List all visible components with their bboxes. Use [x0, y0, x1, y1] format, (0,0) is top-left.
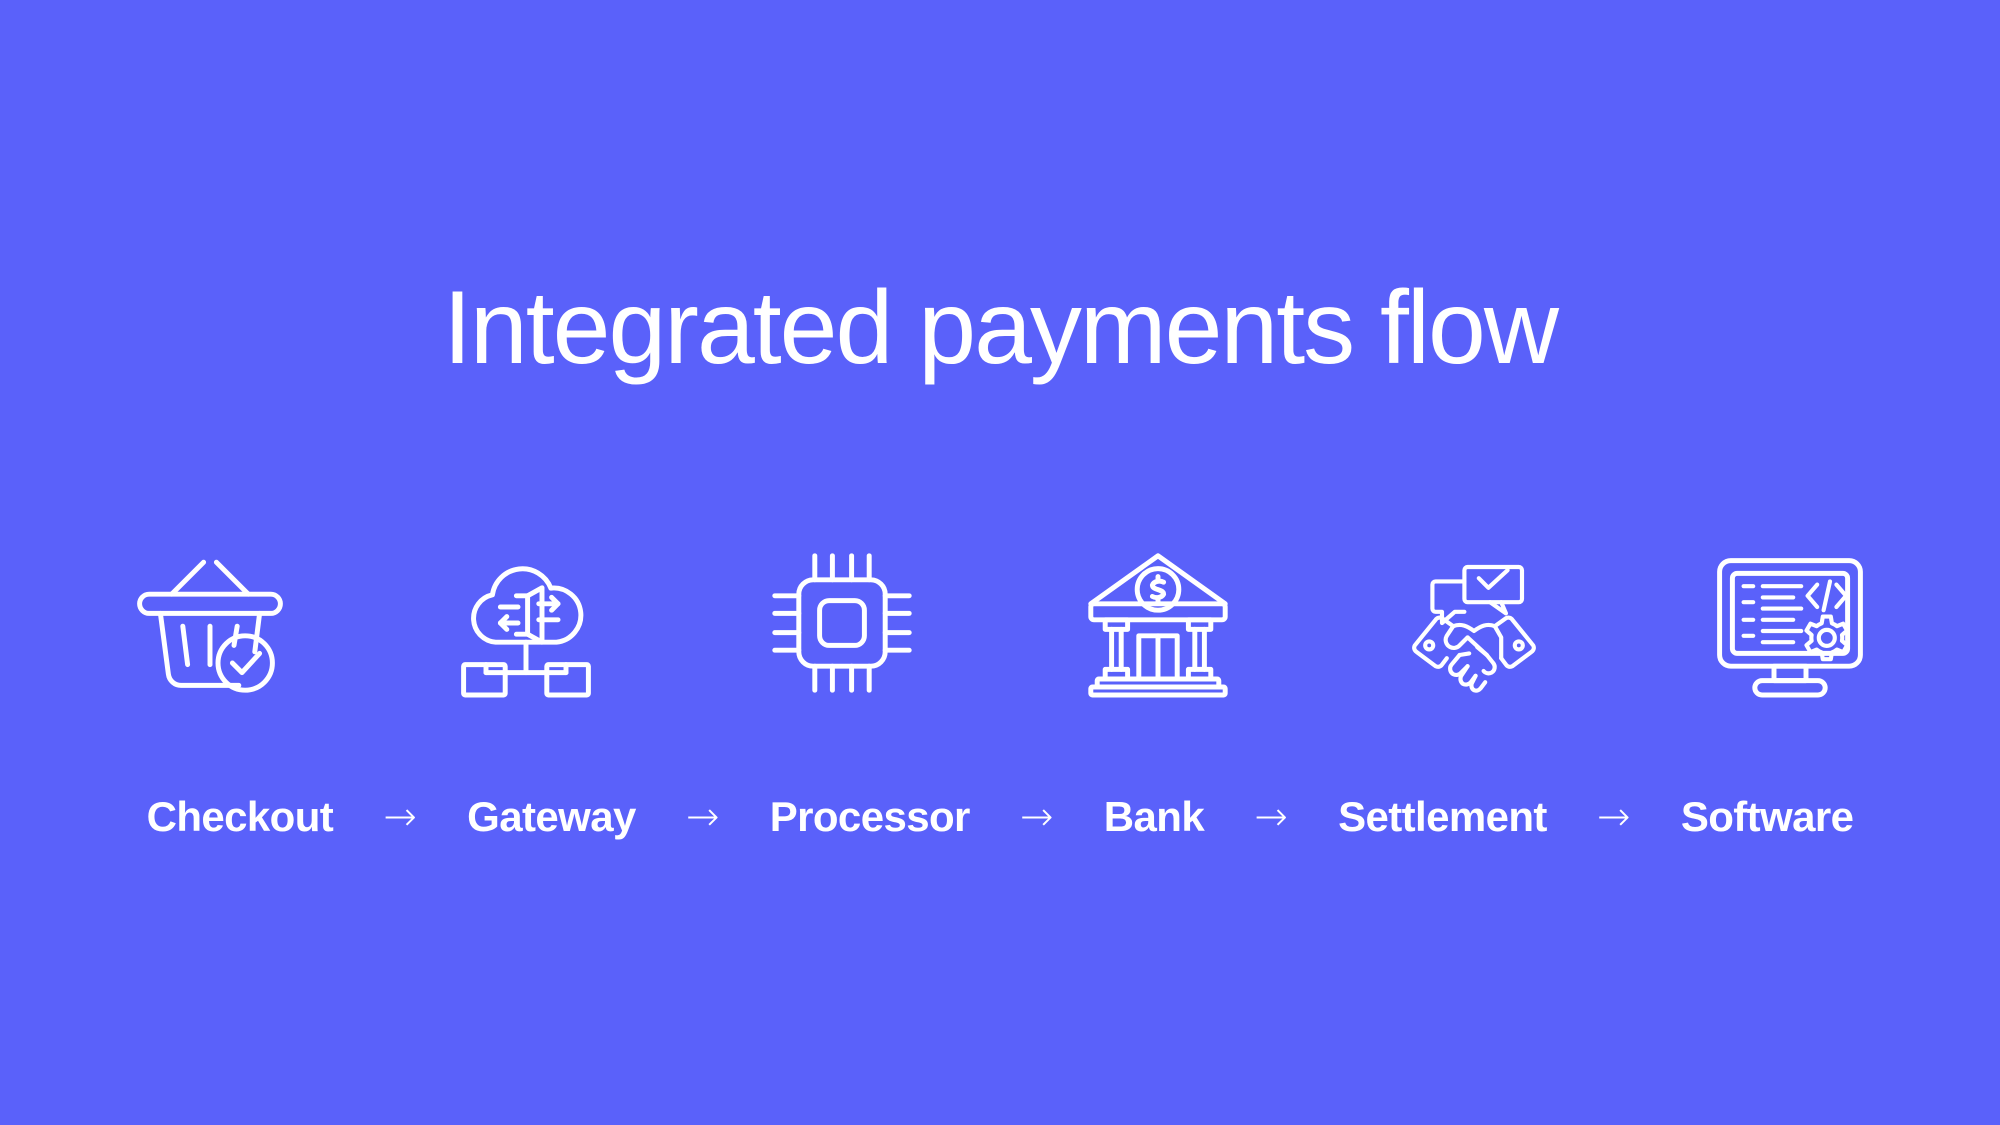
page-title: Integrated payments flow [443, 272, 1557, 384]
flow-step-icon-software [1632, 538, 1948, 708]
shopping-basket-check-icon [130, 543, 290, 703]
flow-step-icon-bank [1000, 538, 1316, 708]
flow-label-checkout[interactable]: Checkout [123, 796, 358, 838]
monitor-code-gear-icon [1710, 543, 1870, 703]
bank-building-dollar-icon [1078, 543, 1238, 703]
cloud-network-exchange-icon [446, 543, 606, 703]
payments-flow-slide: Integrated payments flow [0, 0, 2000, 1125]
handshake-agreement-icon [1394, 543, 1554, 703]
flow-step-icon-gateway [368, 538, 684, 708]
flow-label-software[interactable]: Software [1657, 796, 1878, 838]
flow-arrow-icon-5: → [1571, 797, 1657, 837]
flow-step-icon-checkout [52, 538, 368, 708]
cpu-chip-icon [762, 543, 922, 703]
page-title-container: Integrated payments flow [0, 272, 2000, 384]
flow-step-icon-settlement [1316, 538, 1632, 708]
flow-arrow-icon-1: → [357, 797, 443, 837]
flow-label-bank[interactable]: Bank [1080, 796, 1228, 838]
flow-label-row: Checkout → Gateway → Processor → Bank → … [0, 796, 2000, 838]
flow-arrow-icon-3: → [994, 797, 1080, 837]
flow-arrow-icon-4: → [1228, 797, 1314, 837]
flow-step-icon-processor [684, 538, 1000, 708]
flow-label-settlement[interactable]: Settlement [1314, 796, 1571, 838]
flow-label-processor[interactable]: Processor [746, 796, 994, 838]
flow-label-gateway[interactable]: Gateway [443, 796, 660, 838]
flow-arrow-icon-2: → [660, 797, 746, 837]
flow-icon-row [0, 538, 2000, 708]
